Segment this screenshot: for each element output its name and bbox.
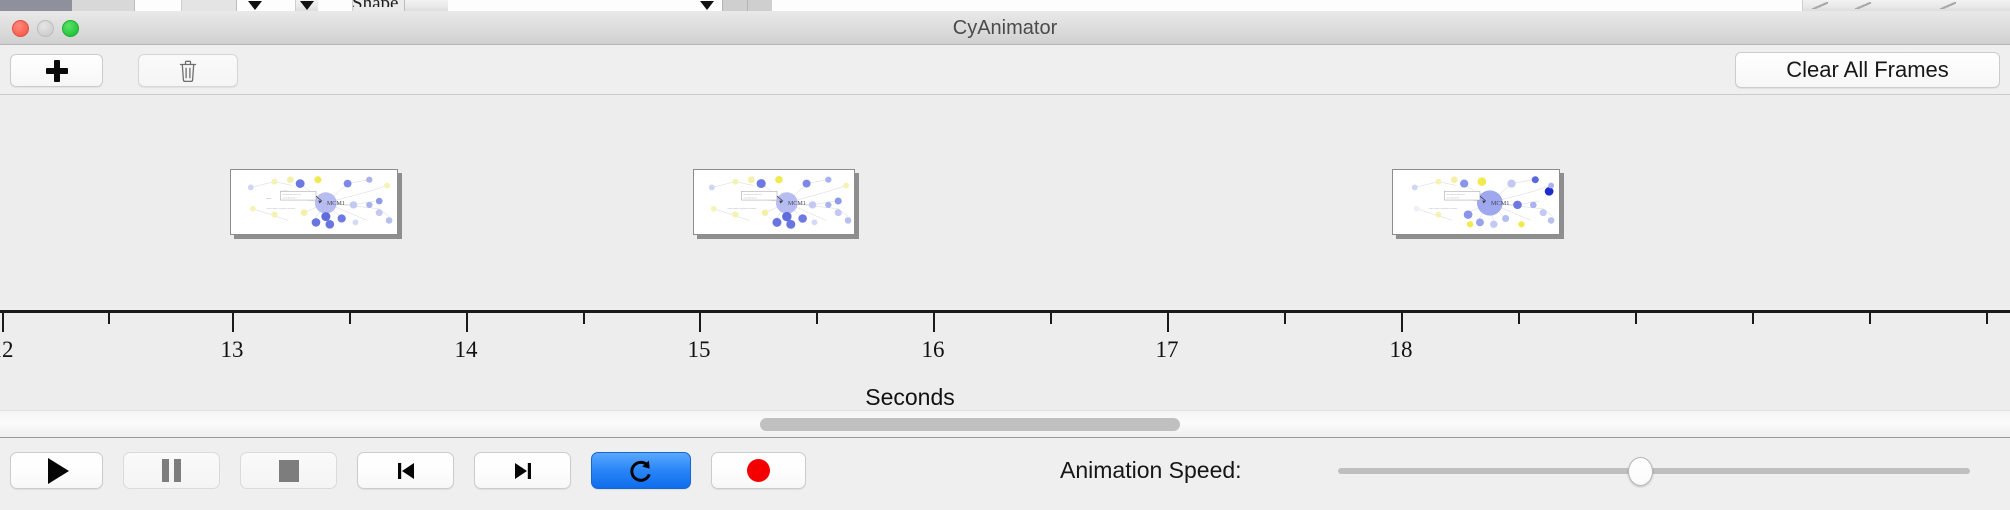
timeline-horizontal-scrollbar[interactable] [0, 410, 2010, 438]
playback-control-bar: Animation Speed: [0, 438, 2010, 510]
ruler-tick-minor [1518, 313, 1520, 324]
animation-speed-slider[interactable] [1338, 452, 1970, 489]
svg-text:MCM1: MCM1 [327, 201, 345, 207]
animation-speed-label: Animation Speed: [1060, 452, 1242, 489]
ruler-tick-minor [1986, 313, 1988, 324]
ruler-tick-minor [1869, 313, 1871, 324]
background-chip [237, 0, 296, 11]
ruler-tick-minor [583, 313, 585, 324]
ruler-baseline [0, 310, 2010, 313]
ruler-tick-minor [1752, 313, 1754, 324]
skip-forward-icon [510, 458, 536, 484]
ruler-label: 15 [688, 337, 711, 363]
last-frame-button[interactable] [474, 452, 571, 489]
svg-text:MCM1: MCM1 [1491, 200, 1510, 207]
ruler-tick-minor [1284, 313, 1286, 324]
svg-text:secondary line: secondary line [743, 197, 757, 200]
ruler-tick-major [2, 313, 4, 332]
ruler-label: 13 [221, 337, 244, 363]
svg-text:secondary line: secondary line [1446, 197, 1460, 200]
background-chip [747, 0, 773, 11]
network-thumbnail: annotation label text secondary line tra… [694, 170, 854, 234]
timeline-panel: gene gene annotation label text secondar… [0, 95, 2010, 410]
background-triangle-icon [248, 1, 262, 10]
ruler-label: 16 [922, 337, 945, 363]
add-frame-button[interactable] [10, 54, 103, 87]
frames-layer: gene gene annotation label text secondar… [0, 95, 2010, 310]
svg-text:transcription regulation netwo: transcription regulation network [267, 207, 297, 210]
background-diagonal-icon [1855, 2, 1871, 9]
frame-thumbnail[interactable]: annotation label text secondary line tra… [693, 169, 855, 235]
background-chip [772, 0, 1803, 11]
pause-button[interactable] [123, 452, 220, 489]
svg-text:MCM1: MCM1 [788, 201, 806, 207]
svg-text:annotation label text: annotation label text [282, 193, 301, 196]
ruler-tick-major [1401, 313, 1403, 332]
trash-icon [178, 59, 198, 83]
skip-back-icon [393, 458, 419, 484]
scrollbar-thumb[interactable] [760, 418, 1180, 431]
ruler-tick-minor [816, 313, 818, 324]
delete-frame-button[interactable] [138, 54, 238, 87]
stop-button[interactable] [240, 452, 337, 489]
background-chip [72, 0, 135, 11]
window-title: CyAnimator [0, 11, 2010, 45]
record-button[interactable] [711, 452, 806, 489]
timeline-ruler[interactable]: 12 13 14 15 16 17 18 Seconds [0, 310, 2010, 410]
ruler-tick-minor [1635, 313, 1637, 324]
ruler-tick-major [1167, 313, 1169, 332]
svg-text:transcription regulation netwo: transcription regulation network [1429, 207, 1459, 210]
ruler-tick-major [232, 313, 234, 332]
cyanimator-window: Shape CyAnimator Clear All Frames [0, 0, 2010, 510]
slider-thumb[interactable] [1628, 457, 1653, 486]
loop-button[interactable] [591, 452, 691, 489]
ruler-label: 14 [455, 337, 478, 363]
network-thumbnail: gene gene annotation label text secondar… [231, 170, 397, 234]
frame-thumbnail[interactable]: annotation label text secondary line tra… [1392, 169, 1560, 235]
stop-icon [279, 460, 299, 482]
network-thumbnail: annotation label text secondary line tra… [1393, 170, 1559, 234]
slider-track [1338, 468, 1970, 474]
axis-title-text: Seconds [865, 384, 955, 410]
svg-text:transcription regulation netwo: transcription regulation network [728, 207, 758, 210]
svg-text:annotation label text: annotation label text [1446, 193, 1465, 196]
background-diagonal-icon [1940, 2, 1956, 9]
plus-icon [46, 60, 68, 82]
toolbar: Clear All Frames [0, 45, 2010, 95]
background-chip [722, 0, 748, 11]
loop-icon [627, 457, 655, 485]
ruler-label: 18 [1390, 337, 1413, 363]
svg-text:secondary line: secondary line [282, 197, 296, 200]
ruler-tick-minor [349, 313, 351, 324]
background-dark-chip [0, 0, 72, 11]
axis-title: Seconds [0, 384, 2010, 410]
first-frame-button[interactable] [357, 452, 454, 489]
record-icon [747, 459, 770, 482]
background-triangle-icon [700, 1, 714, 10]
pause-icon [162, 459, 181, 482]
ruler-label: 17 [1156, 337, 1179, 363]
ruler-tick-major [933, 313, 935, 332]
background-diagonal-icon [1812, 2, 1828, 9]
title-bar: CyAnimator [0, 11, 2010, 45]
ruler-tick-minor [1050, 313, 1052, 324]
frame-thumbnail[interactable]: gene gene annotation label text secondar… [230, 169, 398, 235]
background-triangle-icon [300, 1, 314, 10]
ruler-label: 12 [0, 337, 14, 363]
ruler-tick-minor [108, 313, 110, 324]
ruler-tick-major [466, 313, 468, 332]
play-icon [48, 458, 69, 484]
background-window-label: Shape [352, 0, 398, 7]
play-button[interactable] [10, 452, 103, 489]
background-chip [182, 0, 237, 11]
clear-all-frames-button[interactable]: Clear All Frames [1735, 52, 2000, 88]
ruler-tick-major [699, 313, 701, 332]
background-chip [135, 0, 182, 11]
svg-text:annotation label text: annotation label text [743, 193, 762, 196]
svg-text:gene: gene [267, 198, 273, 200]
background-chip [318, 0, 353, 11]
